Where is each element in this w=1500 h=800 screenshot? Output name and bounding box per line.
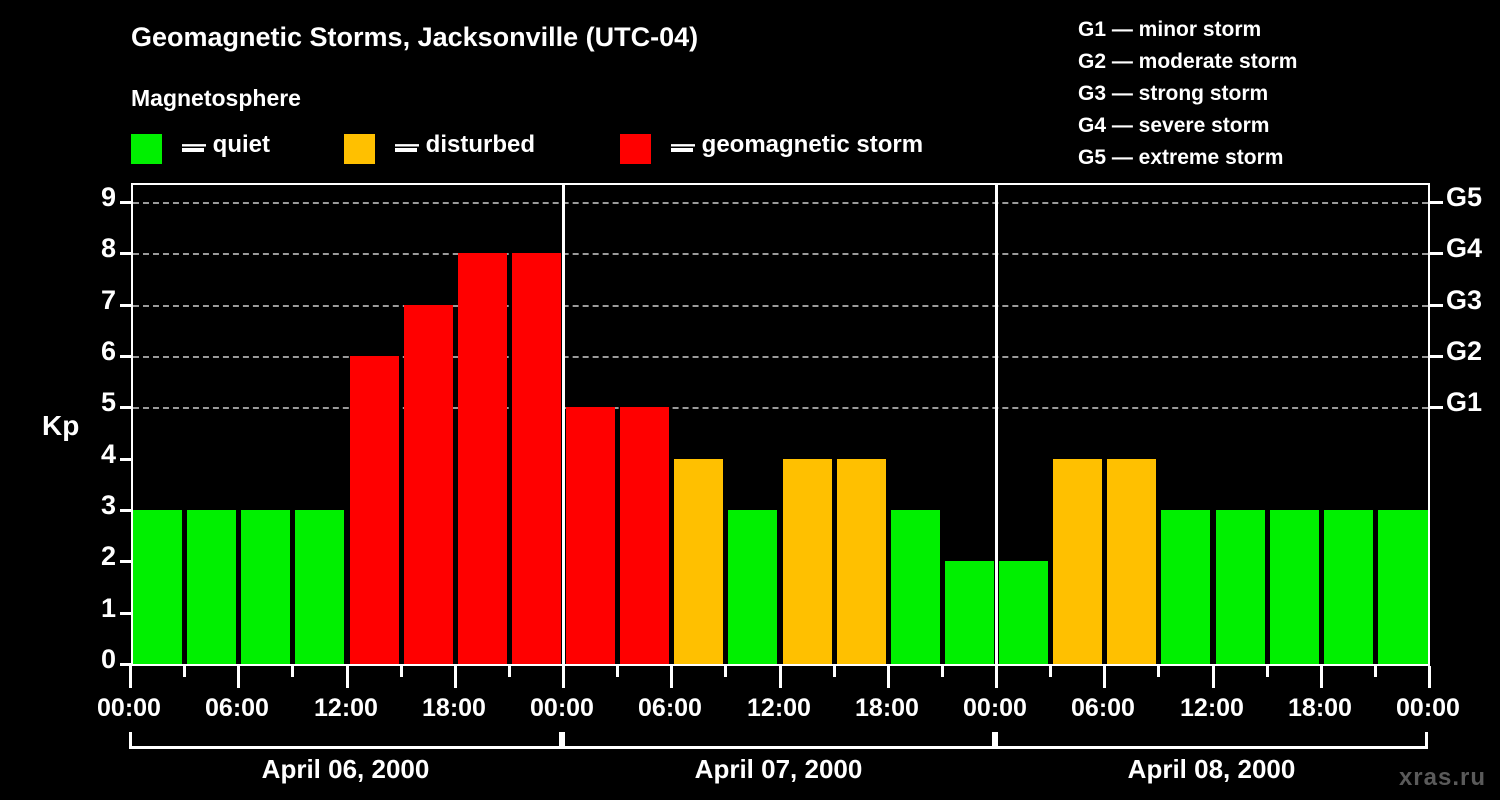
bar-22-kp-3: [1324, 510, 1373, 664]
x-tick-major-8: [562, 666, 565, 688]
gridline-kp-6: [133, 356, 1428, 358]
x-tick-minor-15: [941, 666, 944, 677]
g-tick-label-g4: G4: [1446, 235, 1482, 262]
g-legend-row-g5: G5 — extreme storm: [1078, 142, 1297, 174]
x-tick-major-24: [1428, 666, 1431, 688]
x-tick-label-5: 06:00: [610, 694, 730, 723]
plot-inner: [133, 185, 1428, 664]
g-legend-row-g4: G4 — severe storm: [1078, 110, 1297, 142]
bar-1-kp-3: [187, 510, 236, 664]
gridline-kp-5: [133, 407, 1428, 409]
gridline-kp-8: [133, 253, 1428, 255]
day-separator-1: [562, 185, 565, 664]
y-tick-label-0: 0: [76, 646, 116, 673]
x-tick-major-6: [454, 666, 457, 688]
x-tick-minor-5: [400, 666, 403, 677]
g-tick-label-g3: G3: [1446, 287, 1482, 314]
gridline-kp-9: [133, 202, 1428, 204]
bar-10-kp-4: [674, 459, 723, 664]
y-tick-label-9: 9: [76, 184, 116, 211]
day-bracket-0: [129, 732, 562, 749]
day-bracket-2: [995, 732, 1428, 749]
g-tick-mark-g3: [1430, 304, 1443, 307]
x-tick-major-10: [670, 666, 673, 688]
y-tick-label-4: 4: [76, 441, 116, 468]
g-tick-mark-g2: [1430, 355, 1443, 358]
bar-12-kp-4: [783, 459, 832, 664]
g-legend-row-g2: G2 — moderate storm: [1078, 46, 1297, 78]
x-tick-major-2: [237, 666, 240, 688]
g-tick-label-g1: G1: [1446, 389, 1482, 416]
x-tick-major-14: [887, 666, 890, 688]
bar-13-kp-4: [837, 459, 886, 664]
quiet-legend-swatch-icon: [131, 134, 162, 164]
bar-5-kp-7: [404, 305, 453, 664]
x-tick-minor-3: [291, 666, 294, 677]
bar-8-kp-5: [566, 407, 615, 664]
bar-17-kp-4: [1053, 459, 1102, 664]
x-tick-label-4: 00:00: [502, 694, 622, 723]
y-tick-label-8: 8: [76, 235, 116, 262]
bar-4-kp-6: [350, 356, 399, 664]
x-tick-minor-17: [1049, 666, 1052, 677]
bar-3-kp-3: [295, 510, 344, 664]
y-tick-label-5: 5: [76, 389, 116, 416]
day-bracket-1: [562, 732, 995, 749]
x-tick-minor-11: [724, 666, 727, 677]
g-tick-mark-g5: [1430, 201, 1443, 204]
y-tick-label-6: 6: [76, 338, 116, 365]
day-separator-2: [995, 185, 998, 664]
disturbed-legend-label: — disturbed: [395, 131, 535, 159]
y-axis-title: Kp: [42, 410, 79, 442]
bar-0-kp-3: [133, 510, 182, 664]
y-tick-label-3: 3: [76, 492, 116, 519]
day-label-0: April 06, 2000: [129, 754, 562, 785]
g-tick-mark-g4: [1430, 252, 1443, 255]
x-tick-major-0: [129, 666, 132, 688]
x-tick-label-9: 06:00: [1043, 694, 1163, 723]
disturbed-legend-swatch-icon: [344, 134, 375, 164]
chart-canvas: Geomagnetic Storms, Jacksonville (UTC-04…: [0, 0, 1500, 800]
x-tick-major-12: [779, 666, 782, 688]
gridline-kp-7: [133, 305, 1428, 307]
watermark: xras.ru: [1399, 764, 1486, 792]
x-tick-minor-7: [508, 666, 511, 677]
g-tick-label-g2: G2: [1446, 338, 1482, 365]
g-tick-mark-g1: [1430, 406, 1443, 409]
x-tick-minor-1: [183, 666, 186, 677]
x-tick-minor-19: [1157, 666, 1160, 677]
x-tick-major-4: [346, 666, 349, 688]
bar-15-kp-2: [945, 561, 994, 664]
bar-14-kp-3: [891, 510, 940, 664]
bar-9-kp-5: [620, 407, 669, 664]
x-tick-label-1: 06:00: [177, 694, 297, 723]
x-tick-label-0: 00:00: [69, 694, 189, 723]
plot-area: [131, 183, 1430, 666]
bar-6-kp-8: [458, 253, 507, 664]
x-tick-label-3: 18:00: [394, 694, 514, 723]
x-tick-minor-9: [616, 666, 619, 677]
x-tick-major-20: [1212, 666, 1215, 688]
g-legend-row-g3: G3 — strong storm: [1078, 78, 1297, 110]
bar-7-kp-8: [512, 253, 561, 664]
geomagnetic-storm-legend-label: — geomagnetic storm: [671, 131, 923, 159]
day-label-1: April 07, 2000: [562, 754, 995, 785]
page-title: Geomagnetic Storms, Jacksonville (UTC-04…: [131, 22, 698, 53]
bar-23-kp-3: [1378, 510, 1428, 664]
y-tick-label-2: 2: [76, 543, 116, 570]
x-tick-label-12: 00:00: [1368, 694, 1488, 723]
x-tick-minor-21: [1266, 666, 1269, 677]
x-tick-label-6: 12:00: [719, 694, 839, 723]
g-tick-label-g5: G5: [1446, 184, 1482, 211]
x-tick-minor-23: [1374, 666, 1377, 677]
x-tick-label-2: 12:00: [286, 694, 406, 723]
g-scale-legend: G1 — minor stormG2 — moderate stormG3 — …: [1078, 14, 1297, 174]
y-tick-label-7: 7: [76, 287, 116, 314]
bar-16-kp-2: [999, 561, 1048, 664]
x-tick-label-11: 18:00: [1260, 694, 1380, 723]
bar-11-kp-3: [728, 510, 777, 664]
x-tick-major-16: [995, 666, 998, 688]
x-tick-major-18: [1103, 666, 1106, 688]
bar-21-kp-3: [1270, 510, 1319, 664]
bar-19-kp-3: [1161, 510, 1210, 664]
x-tick-label-10: 12:00: [1152, 694, 1272, 723]
x-tick-label-8: 00:00: [935, 694, 1055, 723]
bar-20-kp-3: [1216, 510, 1265, 664]
y-tick-label-1: 1: [76, 595, 116, 622]
x-tick-major-22: [1320, 666, 1323, 688]
g-legend-row-g1: G1 — minor storm: [1078, 14, 1297, 46]
quiet-legend-label: — quiet: [182, 131, 270, 159]
bar-18-kp-4: [1107, 459, 1156, 664]
bar-2-kp-3: [241, 510, 290, 664]
day-label-2: April 08, 2000: [995, 754, 1428, 785]
x-tick-label-7: 18:00: [827, 694, 947, 723]
geomagnetic-storm-legend-swatch-icon: [620, 134, 651, 164]
subsystem-label: Magnetosphere: [131, 85, 301, 112]
x-tick-minor-13: [833, 666, 836, 677]
